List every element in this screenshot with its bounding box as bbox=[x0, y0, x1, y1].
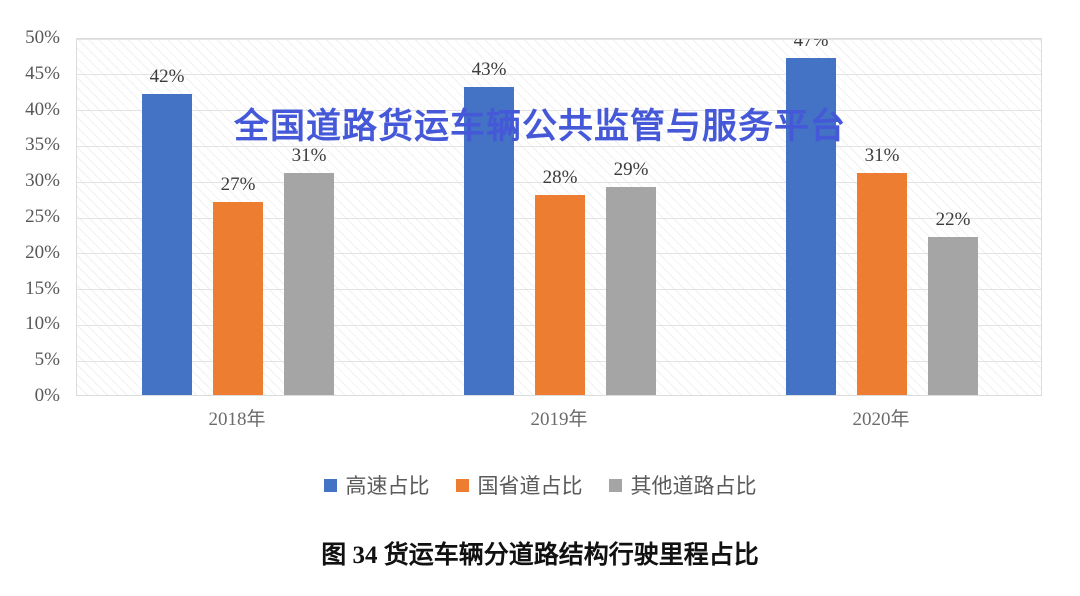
legend-label: 其他道路占比 bbox=[631, 470, 757, 500]
y-axis-tick-label: 30% bbox=[25, 170, 60, 192]
bar-chart-figure: 0%5%10%15%20%25%30%35%40%45%50% 42%27%31… bbox=[0, 0, 1080, 596]
gridline bbox=[77, 39, 1041, 40]
legend-item-国省道占比[interactable]: 国省道占比 bbox=[456, 470, 583, 500]
x-axis-tick-label: 2018年 bbox=[208, 404, 265, 431]
bar-2018年-国省道占比 bbox=[213, 202, 263, 395]
bar-2018年-其他道路占比 bbox=[284, 173, 334, 395]
plot-area: 42%27%31%43%28%29%47%31%22% bbox=[76, 38, 1042, 396]
bar-2020年-其他道路占比 bbox=[928, 237, 978, 395]
legend-item-高速占比[interactable]: 高速占比 bbox=[324, 470, 430, 500]
y-axis-tick-label: 15% bbox=[25, 278, 60, 300]
y-axis-tick-label: 20% bbox=[25, 242, 60, 264]
bar-2018年-高速占比 bbox=[142, 94, 192, 395]
y-axis-tick-label: 5% bbox=[35, 349, 60, 371]
bar-value-label: 42% bbox=[150, 66, 185, 88]
x-axis-tick-label: 2020年 bbox=[852, 404, 909, 431]
legend-swatch-icon bbox=[609, 479, 622, 492]
bar-value-label: 28% bbox=[543, 167, 578, 189]
y-axis: 0%5%10%15%20%25%30%35%40%45%50% bbox=[0, 38, 68, 396]
bar-value-label: 47% bbox=[794, 38, 829, 52]
bar-2020年-国省道占比 bbox=[857, 173, 907, 395]
chart-legend: 高速占比国省道占比其他道路占比 bbox=[0, 470, 1080, 500]
y-axis-tick-label: 35% bbox=[25, 134, 60, 156]
figure-caption: 图 34 货运车辆分道路结构行驶里程占比 bbox=[0, 535, 1080, 571]
bar-value-label: 29% bbox=[614, 159, 649, 181]
legend-swatch-icon bbox=[456, 479, 469, 492]
bar-2019年-其他道路占比 bbox=[606, 187, 656, 395]
gridline bbox=[77, 74, 1041, 75]
x-axis-tick-label: 2019年 bbox=[530, 404, 587, 431]
x-axis: 2018年2019年2020年 bbox=[76, 404, 1042, 440]
gridline bbox=[77, 110, 1041, 111]
legend-label: 国省道占比 bbox=[478, 470, 583, 500]
bar-2020年-高速占比 bbox=[786, 58, 836, 395]
y-axis-tick-label: 0% bbox=[35, 385, 60, 407]
bar-value-label: 43% bbox=[472, 59, 507, 81]
bar-value-label: 31% bbox=[865, 145, 900, 167]
bar-value-label: 31% bbox=[292, 145, 327, 167]
y-axis-tick-label: 10% bbox=[25, 313, 60, 335]
legend-label: 高速占比 bbox=[346, 470, 430, 500]
bar-value-label: 27% bbox=[221, 174, 256, 196]
bar-2019年-高速占比 bbox=[464, 87, 514, 395]
bar-2019年-国省道占比 bbox=[535, 195, 585, 395]
y-axis-tick-label: 40% bbox=[25, 99, 60, 121]
legend-swatch-icon bbox=[324, 479, 337, 492]
y-axis-tick-label: 25% bbox=[25, 206, 60, 228]
bar-value-label: 22% bbox=[936, 209, 971, 231]
legend-item-其他道路占比[interactable]: 其他道路占比 bbox=[609, 470, 757, 500]
y-axis-tick-label: 45% bbox=[25, 63, 60, 85]
y-axis-tick-label: 50% bbox=[25, 27, 60, 49]
